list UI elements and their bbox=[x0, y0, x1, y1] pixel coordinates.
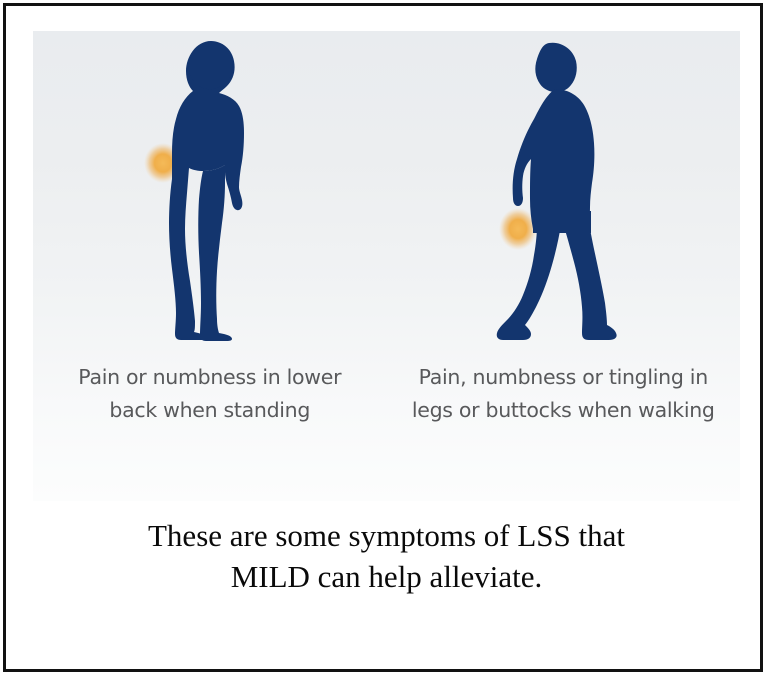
symptom-column-standing: Pain or numbness in lower back when stan… bbox=[33, 31, 387, 501]
caption-walking-line-1: Pain, numbness or tingling in bbox=[419, 365, 708, 389]
standing-figure-area bbox=[33, 31, 387, 361]
summary-statement: These are some symptoms of LSS that MILD… bbox=[33, 516, 740, 598]
caption-standing: Pain or numbness in lower back when stan… bbox=[60, 361, 360, 427]
caption-standing-line-2: back when standing bbox=[109, 398, 310, 422]
caption-walking: Pain, numbness or tingling in legs or bu… bbox=[403, 361, 723, 427]
summary-statement-line-1: These are some symptoms of LSS that bbox=[33, 516, 740, 557]
walking-hip-shape bbox=[533, 211, 591, 233]
symptom-column-walking: Pain, numbness or tingling in legs or bu… bbox=[387, 31, 741, 501]
summary-statement-line-2: MILD can help alleviate. bbox=[33, 557, 740, 598]
symptom-panel: Pain or numbness in lower back when stan… bbox=[33, 31, 740, 501]
caption-walking-line-2: legs or buttocks when walking bbox=[412, 398, 715, 422]
symptom-columns: Pain or numbness in lower back when stan… bbox=[33, 31, 740, 501]
walking-front-leg-shape bbox=[563, 223, 617, 340]
image-frame: Pain or numbness in lower back when stan… bbox=[3, 3, 763, 672]
standing-front-leg-shape bbox=[198, 165, 232, 341]
walking-figure-area bbox=[387, 31, 741, 361]
walking-man-silhouette bbox=[463, 33, 663, 353]
walking-head-shape bbox=[536, 43, 577, 92]
walking-torso-shape bbox=[513, 89, 595, 229]
standing-man-silhouette bbox=[115, 33, 305, 353]
caption-standing-line-1: Pain or numbness in lower bbox=[78, 365, 341, 389]
